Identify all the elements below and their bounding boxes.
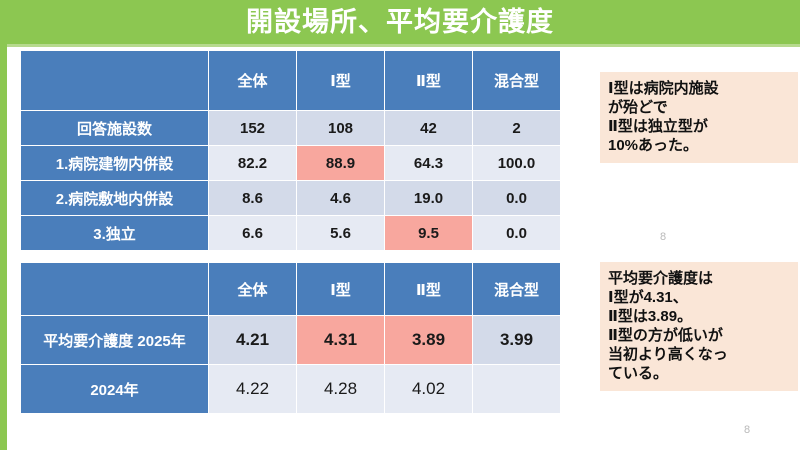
header-mixed: 混合型: [473, 51, 561, 111]
cell-value: 82.2: [209, 146, 297, 181]
facility-location-table: 全体 Ⅰ型 Ⅱ型 混合型 回答施設数 152 108 42 2 1.病院建物内併…: [20, 50, 561, 251]
note-box-average-care-level: 平均要介護度は Ⅰ型が4.31、 Ⅱ型は3.89。 Ⅱ型の方が低いが 当初より高…: [600, 262, 798, 391]
table-header-row: 全体 Ⅰ型 Ⅱ型 混合型: [21, 263, 561, 316]
cell-value: 4.02: [385, 365, 473, 414]
table-header-row: 全体 Ⅰ型 Ⅱ型 混合型: [21, 51, 561, 111]
cell-value: 152: [209, 111, 297, 146]
left-accent-strip: [0, 44, 7, 450]
table-row: 3.独立 6.6 5.6 9.5 0.0: [21, 216, 561, 251]
cell-value: 4.6: [297, 181, 385, 216]
header-type-1: Ⅰ型: [297, 263, 385, 316]
row-label: 3.独立: [21, 216, 209, 251]
cell-value: 5.6: [297, 216, 385, 251]
header-blank: [21, 263, 209, 316]
header-type-2: Ⅱ型: [385, 263, 473, 316]
cell-value: 0.0: [473, 216, 561, 251]
header-type-1: Ⅰ型: [297, 51, 385, 111]
cell-value: 19.0: [385, 181, 473, 216]
page-title: 開設場所、平均要介護度: [0, 0, 800, 44]
row-label: 回答施設数: [21, 111, 209, 146]
title-banner-edge: [0, 44, 800, 47]
cell-value: 100.0: [473, 146, 561, 181]
header-mixed: 混合型: [473, 263, 561, 316]
cell-value: 3.99: [473, 316, 561, 365]
average-care-level-table: 全体 Ⅰ型 Ⅱ型 混合型 平均要介護度 2025年 4.21 4.31 3.89…: [20, 262, 561, 414]
table-row: 平均要介護度 2025年 4.21 4.31 3.89 3.99: [21, 316, 561, 365]
cell-value: 108: [297, 111, 385, 146]
cell-value: 4.22: [209, 365, 297, 414]
cell-value: 4.28: [297, 365, 385, 414]
header-type-2: Ⅱ型: [385, 51, 473, 111]
cell-value: 64.3: [385, 146, 473, 181]
cell-value-highlighted: 4.31: [297, 316, 385, 365]
cell-value: 8.6: [209, 181, 297, 216]
cell-value-empty: [473, 365, 561, 414]
cell-value: 42: [385, 111, 473, 146]
page-number: 8: [744, 424, 750, 436]
table-row: 回答施設数 152 108 42 2: [21, 111, 561, 146]
cell-value: 0.0: [473, 181, 561, 216]
header-blank: [21, 51, 209, 111]
cell-value: 2: [473, 111, 561, 146]
table-row: 2024年 4.22 4.28 4.02: [21, 365, 561, 414]
row-label: 1.病院建物内併設: [21, 146, 209, 181]
row-label: 2024年: [21, 365, 209, 414]
cell-value-highlighted: 3.89: [385, 316, 473, 365]
row-label: 平均要介護度 2025年: [21, 316, 209, 365]
table-row: 2.病院敷地内併設 8.6 4.6 19.0 0.0: [21, 181, 561, 216]
header-total: 全体: [209, 263, 297, 316]
note-box-facility-location: Ⅰ型は病院内施設 が殆どで Ⅱ型は独立型が 10%あった。: [600, 72, 798, 163]
cell-value: 4.21: [209, 316, 297, 365]
page-number: 8: [660, 231, 666, 243]
header-total: 全体: [209, 51, 297, 111]
cell-value-highlighted: 9.5: [385, 216, 473, 251]
row-label: 2.病院敷地内併設: [21, 181, 209, 216]
table-row: 1.病院建物内併設 82.2 88.9 64.3 100.0: [21, 146, 561, 181]
cell-value-highlighted: 88.9: [297, 146, 385, 181]
cell-value: 6.6: [209, 216, 297, 251]
